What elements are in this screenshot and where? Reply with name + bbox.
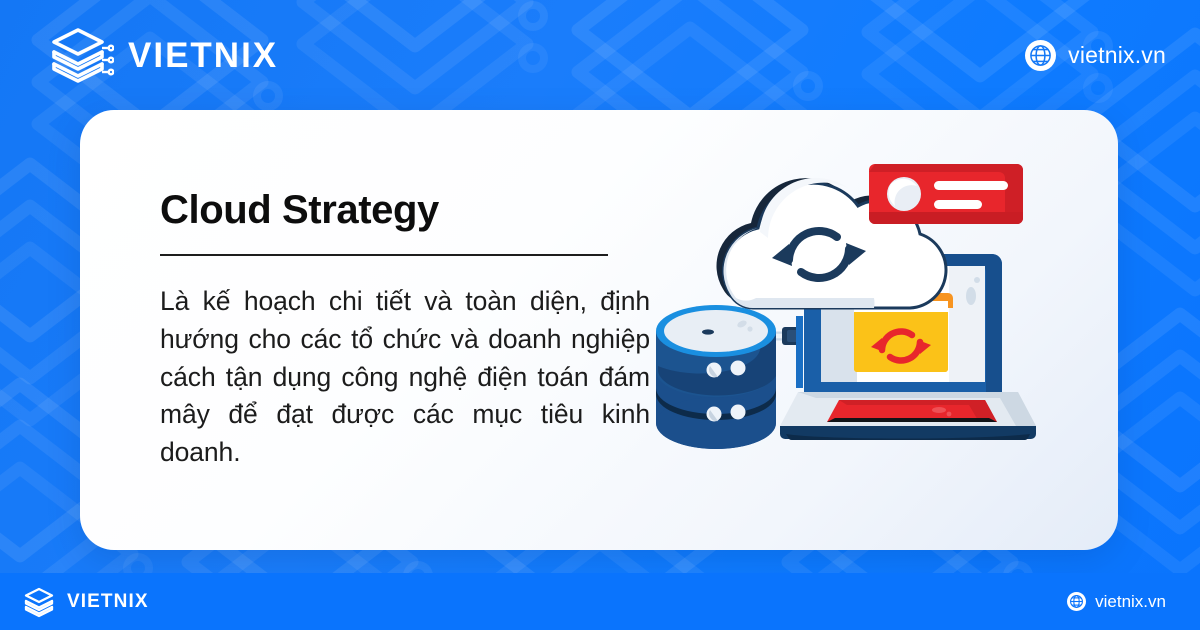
- globe-icon: [1067, 592, 1086, 611]
- footer-bar: VIETNIX vietnix.vn: [0, 573, 1200, 630]
- globe-icon: [1025, 40, 1056, 71]
- title-divider: [160, 254, 608, 256]
- brand-logo[interactable]: VIETNIX: [52, 26, 278, 84]
- website-url: vietnix.vn: [1068, 44, 1166, 67]
- red-id-card-with-avatar: [869, 164, 1023, 224]
- card-body-text: Là kế hoạch chi tiết và toàn diện, định …: [160, 283, 650, 471]
- footer-website-url: vietnix.vn: [1095, 593, 1166, 610]
- header-bar: VIETNIX vietnix.vn: [0, 0, 1200, 110]
- footer-brand-logo[interactable]: VIETNIX: [24, 586, 149, 618]
- footer-website-link[interactable]: vietnix.vn: [1067, 592, 1166, 611]
- cloud-computing-illustration: [640, 110, 1118, 550]
- content-card: Cloud Strategy Là kế hoạch chi tiết và t…: [80, 110, 1118, 550]
- footer-brand-name: VIETNIX: [67, 592, 149, 611]
- database-stack: [656, 305, 776, 449]
- brand-name: VIETNIX: [128, 38, 278, 73]
- poster-canvas: VIETNIX vietnix.vn Cloud: [0, 0, 1200, 630]
- website-link[interactable]: vietnix.vn: [1025, 40, 1166, 71]
- card-text-block: Cloud Strategy Là kế hoạch chi tiết và t…: [80, 188, 640, 471]
- stacked-layers-logo-icon: [52, 26, 114, 84]
- page-title: Cloud Strategy: [160, 188, 630, 232]
- stacked-layers-logo-icon: [24, 586, 58, 618]
